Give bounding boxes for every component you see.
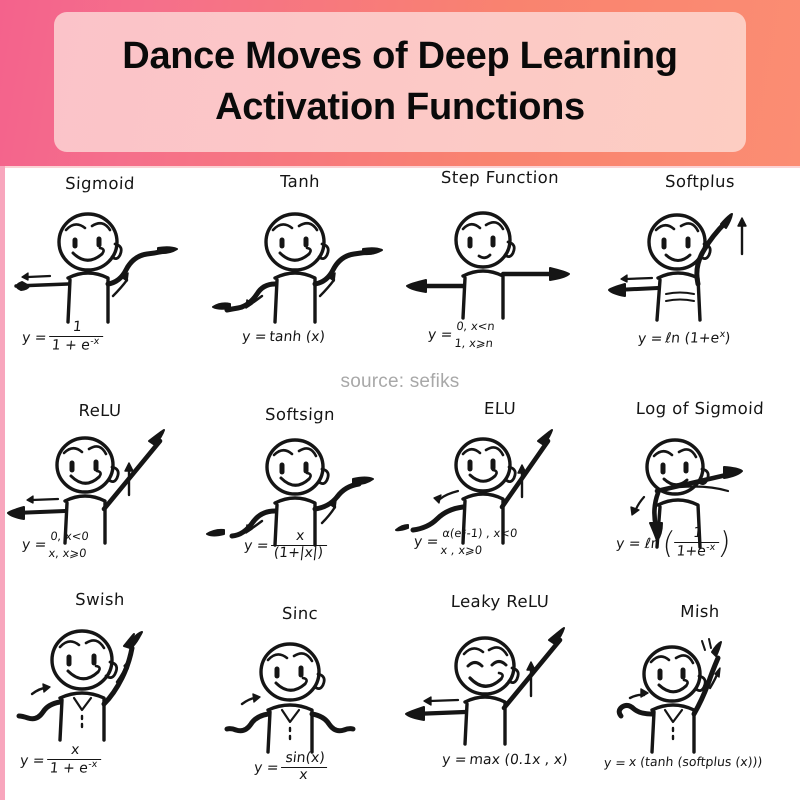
cell-title-step-function: Step Function: [400, 168, 601, 187]
activation-grid: Sigmoid: [0, 166, 800, 800]
formula-piece-1: 0, x<n: [455, 318, 495, 335]
cell-title-tanh: Tanh: [200, 172, 401, 191]
formula-denominator: 1 + e: [51, 337, 91, 353]
figure-swish: [0, 618, 200, 743]
formula-lhs: y =: [21, 537, 50, 553]
formula-numerator: sin(x): [282, 751, 329, 767]
cell-relu[interactable]: ReLU: [0, 377, 200, 588]
formula-denominator-sup: -x: [88, 759, 98, 770]
activation-functions-infographic: Dance Moves of Deep Learning Activation …: [0, 0, 800, 800]
cell-title-log-of-sigmoid: Log of Sigmoid: [600, 399, 800, 418]
formula-piece-2: x, x⩾0: [48, 545, 88, 562]
formula-numerator: 1: [50, 320, 105, 336]
cell-title-relu: ReLU: [0, 401, 200, 420]
cell-title-mish: Mish: [600, 602, 800, 621]
cell-title-softsign: Softsign: [200, 405, 401, 424]
formula-lhs: y =: [441, 752, 470, 768]
formula-softplus: y =ℓn (1+ex): [637, 329, 731, 347]
cell-step-function[interactable]: Step Function: [400, 166, 600, 377]
cell-title-leaky-relu: Leaky ReLU: [400, 592, 601, 611]
figure-sinc: [200, 632, 400, 757]
figure-tanh: [200, 204, 400, 329]
cell-mish[interactable]: Mish: [600, 588, 800, 799]
formula-numerator: x: [48, 743, 103, 759]
formula-body: max (0.1x , x): [469, 752, 569, 768]
formula-sigmoid: y =11 + e-x: [20, 321, 104, 355]
cell-title-elu: ELU: [400, 399, 601, 418]
formula-body: tanh (x): [269, 329, 326, 345]
formula-leaky-relu: y =max (0.1x , x): [441, 752, 568, 768]
formula-lhs: y =: [243, 538, 272, 554]
cell-softplus[interactable]: Softplus: [600, 166, 800, 377]
formula-piece-2: x , x⩾0: [440, 542, 517, 559]
cell-sigmoid[interactable]: Sigmoid: [0, 166, 200, 377]
cell-tanh[interactable]: Tanh: [200, 166, 400, 377]
cell-swish[interactable]: Swish: [0, 588, 200, 799]
formula-softsign: y =x(1+|x|): [242, 530, 328, 562]
formula-lhs: y = ℓn: [615, 536, 663, 552]
formula-swish: y =x1 + e-x: [18, 744, 102, 778]
formula-denominator: x: [280, 767, 327, 784]
formula-elu: y =α(eˣ-1) , x<0x , x⩾0: [412, 525, 518, 558]
cell-title-softplus: Softplus: [600, 172, 800, 191]
cell-title-swish: Swish: [0, 590, 200, 609]
source-watermark: source: sefiks: [0, 371, 800, 393]
figure-leaky-relu: [400, 624, 600, 749]
formula-relu: y =0, x<0x, x⩾0: [20, 528, 89, 561]
formula-piece-1: α(eˣ-1) , x<0: [441, 525, 518, 542]
cell-log-of-sigmoid[interactable]: Log of Sigmoid: [600, 377, 800, 588]
figure-sigmoid: [0, 204, 200, 329]
formula-denominator: 1+e: [676, 543, 707, 559]
formula-piece-2: 1, x⩾n: [454, 335, 494, 352]
formula-step-function: y =0, x<n1, x⩾n: [426, 318, 495, 351]
formula-lhs: y =: [413, 534, 442, 550]
formula-numerator: 1: [675, 526, 721, 542]
figure-step-function: [400, 200, 600, 325]
formula-denominator: 1 + e: [49, 760, 89, 776]
cell-softsign[interactable]: Softsign: [200, 377, 400, 588]
formula-tanh: y =tanh (x): [241, 329, 326, 345]
formula-tail: ): [724, 331, 731, 347]
header-title-card: Dance Moves of Deep Learning Activation …: [54, 12, 746, 152]
formula-paren-close: ): [717, 533, 731, 555]
formula-lhs: y =: [253, 760, 282, 776]
formula-lhs: y =: [637, 331, 666, 347]
page-title-line1: Dance Moves of Deep Learning: [122, 31, 677, 82]
cell-title-sigmoid: Sigmoid: [0, 174, 200, 193]
formula-lhs: y =: [603, 755, 629, 770]
figure-softplus: [600, 202, 800, 327]
formula-body: ℓn (1+e: [665, 331, 721, 347]
formula-numerator: x: [272, 529, 329, 545]
page-title-line2: Activation Functions: [215, 82, 585, 133]
header-banner: Dance Moves of Deep Learning Activation …: [0, 0, 800, 166]
formula-denominator-sup: -x: [90, 336, 100, 347]
cell-title-sinc: Sinc: [200, 604, 401, 623]
figure-mish: [600, 630, 800, 755]
formula-lhs: y =: [427, 327, 456, 343]
formula-denominator-sup: -x: [706, 542, 716, 553]
formula-body: x (tanh (softplus (x))): [628, 754, 763, 769]
figures-board: Sigmoid: [0, 166, 800, 800]
formula-lhs: y =: [241, 329, 270, 345]
formula-sinc: y =sin(x)x: [252, 752, 328, 784]
cell-sinc[interactable]: Sinc: [200, 588, 400, 799]
formula-lhs: y =: [21, 330, 50, 346]
formula-piece-1: 0, x<0: [49, 528, 89, 545]
formula-log-of-sigmoid: y = ℓn(11+e-x): [614, 527, 732, 561]
formula-denominator: (1+|x|): [270, 545, 327, 562]
cell-elu[interactable]: ELU: [400, 377, 600, 588]
formula-mish: y =x (tanh (softplus (x))): [603, 754, 763, 770]
formula-lhs: y =: [19, 753, 48, 769]
cell-leaky-relu[interactable]: Leaky ReLU: [400, 588, 600, 799]
